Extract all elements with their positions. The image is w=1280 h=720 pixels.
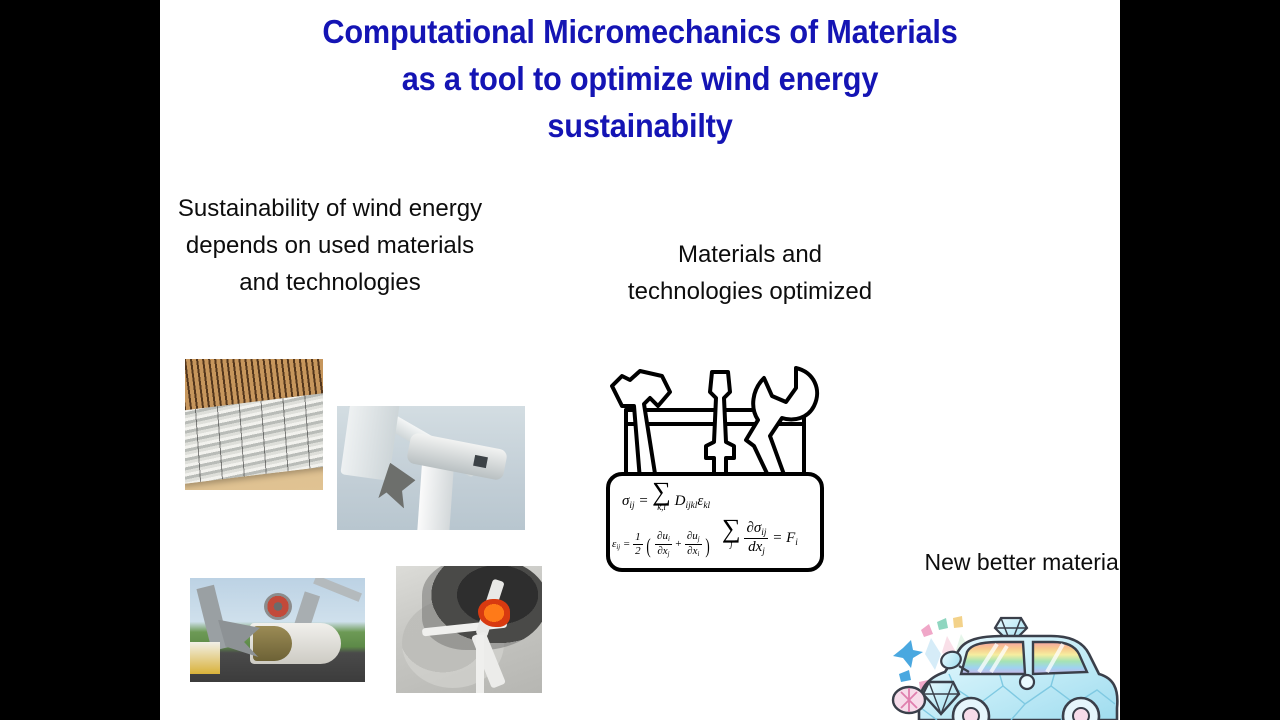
title-line-1: Computational Micromechanics of Material…: [212, 8, 1068, 55]
screwdriver-icon: [706, 372, 734, 484]
excavator-cab: [190, 642, 220, 673]
caption-new-better-materials: New better materials: [920, 544, 1120, 580]
caption-sustainability: Sustainability of wind energy depends on…: [170, 190, 490, 301]
sheet-ties: [185, 393, 323, 485]
presentation-slide: Computational Micromechanics of Material…: [160, 0, 1120, 720]
nacelle-vent: [473, 454, 488, 467]
title-line-2: as a tool to optimize wind energy: [212, 55, 1068, 102]
photo-corrugated-sheets-and-rebar: [185, 359, 323, 490]
turbine-tower: [476, 635, 483, 693]
headlight: [893, 687, 925, 713]
photo-burning-wind-turbine: [396, 566, 542, 693]
photo-damaged-wind-turbine: [337, 406, 525, 530]
photo-turbine-nacelle-recycling: [190, 578, 365, 682]
page-title: Computational Micromechanics of Material…: [212, 8, 1068, 149]
equation-equilibrium: ∑j ∂σijdxj = Fi: [722, 518, 798, 557]
door-handle: [1020, 675, 1034, 689]
crystal-car-illustration: [875, 612, 1120, 720]
cutting-saw: [264, 593, 292, 620]
equation-strain-definition: εij = 12 ( ∂ui∂xj + ∂uj∂xi ): [612, 530, 711, 559]
car-windows: [961, 642, 1087, 674]
equation-constitutive-law: σij = ∑k,l Dijklεkl: [622, 481, 710, 512]
nacelle-interior: [253, 626, 292, 661]
excavator-arm-right: [313, 578, 362, 602]
slide-stage: Computational Micromechanics of Material…: [0, 0, 1280, 720]
caption-materials-optimized: Materials and technologies optimized: [615, 236, 885, 310]
flames: [478, 599, 510, 627]
title-line-3: sustainabilty: [212, 102, 1068, 149]
